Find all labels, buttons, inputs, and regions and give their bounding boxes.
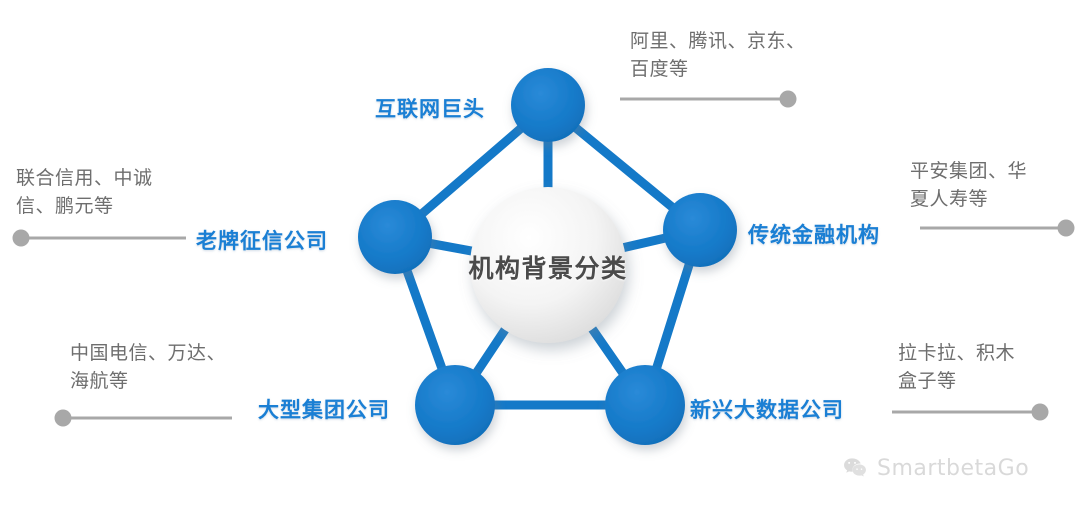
node-large-conglomerates[interactable] — [415, 365, 495, 445]
watermark-text: SmartbetaGo — [877, 456, 1029, 481]
center-title: 机构背景分类 — [348, 249, 748, 285]
link-internet-giants-to-traditional-finance — [572, 125, 676, 211]
link-traditional-finance-to-center — [618, 237, 670, 249]
detail-text-legacy-credit: 联合信用、中诚 信、鹏元等 — [16, 165, 153, 220]
detail-text-traditional-finance: 平安集团、华 夏人寿等 — [910, 158, 1027, 213]
wechat-icon — [842, 455, 868, 481]
detail-text-internet-giants: 阿里、腾讯、京东、 百度等 — [630, 28, 806, 83]
node-label-traditional-finance[interactable]: 传统金融机构 — [748, 219, 880, 249]
node-label-internet-giants[interactable]: 互联网巨头 — [375, 93, 485, 123]
link-large-conglomerates-to-center — [474, 325, 508, 377]
diagram-canvas: 机构背景分类 互联网巨头老牌征信公司传统金融机构大型集团公司新兴大数据公司 阿里… — [0, 0, 1080, 514]
connector-dot-internet-giants — [780, 91, 797, 108]
node-label-legacy-credit[interactable]: 老牌征信公司 — [196, 225, 328, 255]
node-label-new-bigdata[interactable]: 新兴大数据公司 — [690, 394, 844, 424]
detail-text-new-bigdata: 拉卡拉、积木 盒子等 — [898, 340, 1015, 395]
connector-dot-legacy-credit — [13, 230, 30, 247]
detail-text-large-conglomerates: 中国电信、万达、 海航等 — [70, 340, 226, 395]
connector-dot-new-bigdata — [1032, 404, 1049, 421]
node-label-large-conglomerates[interactable]: 大型集团公司 — [258, 394, 390, 424]
connector-dot-large-conglomerates — [55, 410, 72, 427]
watermark: SmartbetaGo — [842, 455, 1029, 481]
node-new-bigdata[interactable] — [605, 365, 685, 445]
link-new-bigdata-to-center — [589, 324, 626, 377]
connector-dot-traditional-finance — [1058, 220, 1075, 237]
node-internet-giants[interactable] — [511, 68, 585, 142]
